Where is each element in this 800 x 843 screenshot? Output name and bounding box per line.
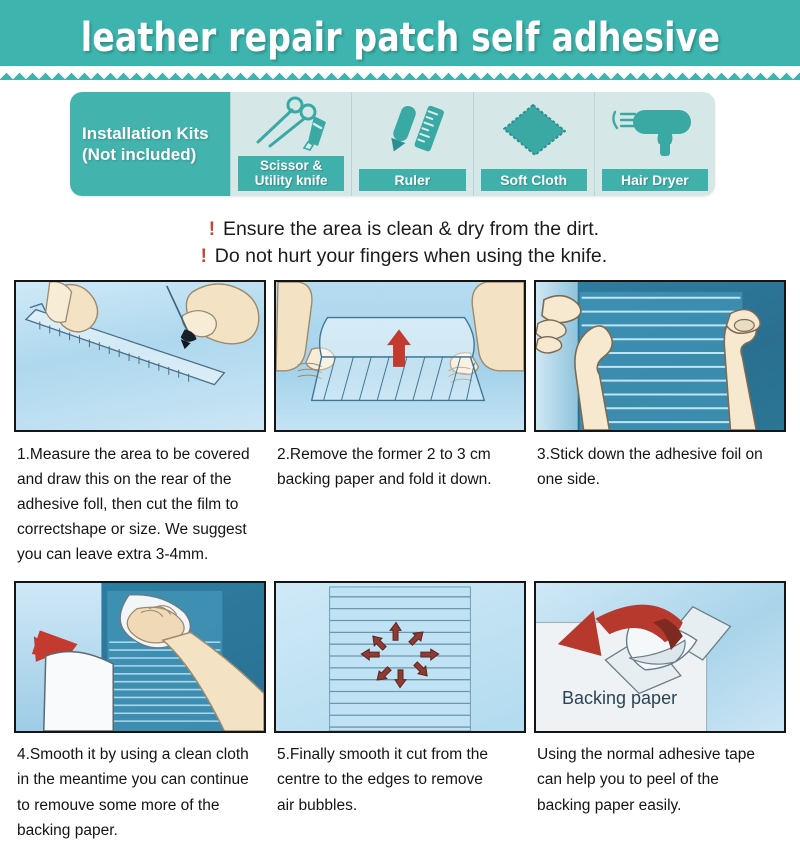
kit-item-ruler: Ruler: [351, 92, 472, 196]
step-illustration-2: [274, 280, 526, 432]
instruction-sheet: leather repair patch self adhesive Insta…: [0, 0, 800, 800]
step-caption-5: 5.Finally smooth it cut from the centre …: [274, 733, 526, 817]
kit-label-hair-dryer: Hair Dryer: [602, 169, 708, 191]
steps-row-1: 1.Measure the area to be covered and dra…: [0, 280, 800, 568]
page-header: leather repair patch self adhesive: [0, 0, 800, 80]
installation-kits-panel: Installation Kits (Not included): [70, 92, 715, 196]
zigzag-divider: [0, 66, 800, 80]
warnings-section: ! Ensure the area is clean & dry from th…: [0, 210, 800, 280]
step-illustration-1: [14, 280, 266, 432]
kit-label-scissor-utility-knife: Scissor & Utility knife: [238, 156, 344, 191]
backing-paper-label: Backing paper: [562, 688, 677, 709]
kits-title-line2: (Not included): [82, 144, 230, 165]
kit-label-soft-cloth: Soft Cloth: [481, 169, 587, 191]
step-card-5: 5.Finally smooth it cut from the centre …: [274, 581, 526, 842]
scissors-utility-knife-icon: [231, 92, 351, 156]
step-card-1: 1.Measure the area to be covered and dra…: [14, 280, 266, 568]
kit-label-ruler: Ruler: [359, 169, 465, 191]
step-card-3: 3.Stick down the adhesive foil on one si…: [534, 280, 786, 568]
cloth-icon: [474, 92, 594, 169]
step-card-6: Backing paper Using the normal adhesive …: [534, 581, 786, 842]
hair-dryer-icon: [595, 92, 715, 169]
step-illustration-4: [14, 581, 266, 733]
warning-exclamation-icon: !: [201, 219, 223, 241]
installation-kits-section: Installation Kits (Not included): [0, 80, 800, 210]
warning-text-2: Do not hurt your fingers when using the …: [215, 243, 607, 270]
step-card-4: 4.Smooth it by using a clean cloth in th…: [14, 581, 266, 842]
page-title: leather repair patch self adhesive: [80, 18, 719, 58]
step-caption-1: 1.Measure the area to be covered and dra…: [14, 432, 266, 568]
installation-kits-title: Installation Kits (Not included): [70, 92, 230, 196]
warning-row-1: ! Ensure the area is clean & dry from th…: [0, 216, 800, 243]
kit-item-hair-dryer: Hair Dryer: [594, 92, 715, 196]
warning-exclamation-icon: !: [193, 246, 215, 268]
kit-item-soft-cloth: Soft Cloth: [473, 92, 594, 196]
step-illustration-6: Backing paper: [534, 581, 786, 733]
step-illustration-3: [534, 280, 786, 432]
kit-item-scissor-utility-knife: Scissor & Utility knife: [230, 92, 351, 196]
step-caption-3: 3.Stick down the adhesive foil on one si…: [534, 432, 786, 492]
step-card-2: 2.Remove the former 2 to 3 cm backing pa…: [274, 280, 526, 568]
step-caption-2: 2.Remove the former 2 to 3 cm backing pa…: [274, 432, 526, 492]
kits-title-line1: Installation Kits: [82, 123, 230, 144]
warning-row-2: ! Do not hurt your fingers when using th…: [0, 243, 800, 270]
pen-ruler-icon: [352, 92, 472, 169]
warning-text-1: Ensure the area is clean & dry from the …: [223, 216, 599, 243]
step-illustration-5: [274, 581, 526, 733]
step-caption-4: 4.Smooth it by using a clean cloth in th…: [14, 733, 266, 842]
steps-row-2: 4.Smooth it by using a clean cloth in th…: [0, 581, 800, 842]
step-caption-6: Using the normal adhesive tape can help …: [534, 733, 786, 817]
